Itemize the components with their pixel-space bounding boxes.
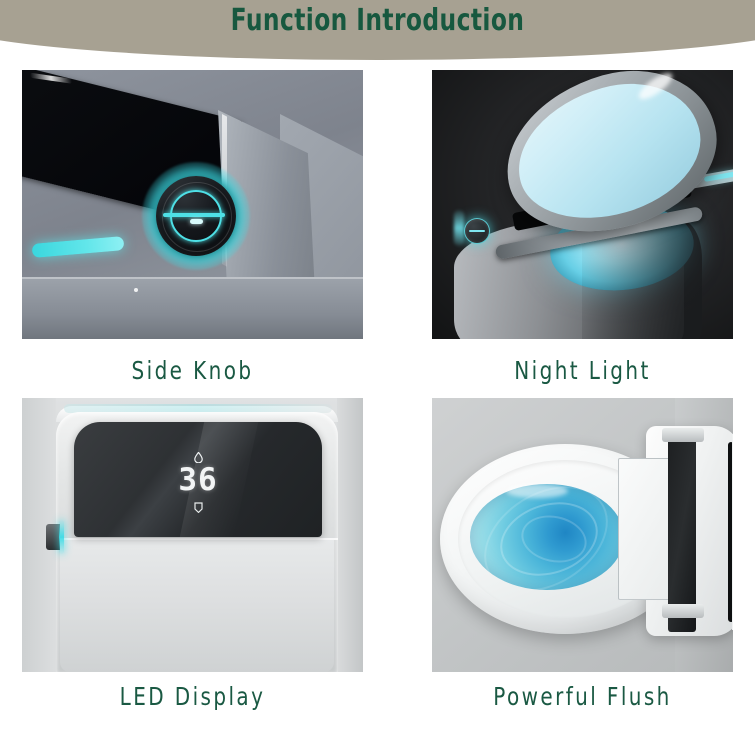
powerful-flush-image: 36 (432, 398, 733, 672)
housing-outer-edge (732, 434, 733, 630)
side-button-glow (59, 520, 64, 554)
side-knob-image (22, 70, 363, 339)
bowl-highlight (506, 484, 568, 498)
feature-card-night-light[interactable]: Night Light (432, 70, 733, 339)
body-lower-band (22, 277, 363, 339)
tank-seam (56, 538, 338, 540)
page-title: Function Introduction (83, 2, 672, 40)
temperature-icon (194, 500, 203, 511)
hinge-clip-top (662, 428, 704, 442)
edge-glow (454, 210, 464, 246)
led-display-image: 36 (22, 398, 363, 672)
knob-symbol-bar-icon (163, 213, 225, 217)
wall-right (337, 398, 363, 672)
night-light-image (432, 70, 733, 339)
caption-side-knob: Side Knob (56, 356, 329, 385)
control-panel-strip[interactable]: 36 (668, 430, 696, 632)
temperature-value: 36 (74, 464, 322, 496)
hinge-clip-bottom (662, 604, 704, 618)
light-strip-icon (32, 236, 125, 258)
knob-symbol-dot-icon (190, 219, 203, 224)
feature-card-side-knob[interactable]: Side Knob (22, 70, 363, 339)
caption-led-display: LED Display (56, 682, 329, 711)
header-banner: Function Introduction (0, 0, 755, 62)
temperature-readout: 36 (74, 450, 322, 511)
water-drop-icon (194, 450, 203, 461)
feature-card-led-display[interactable]: 36 LED Display (22, 398, 363, 672)
caption-night-light: Night Light (462, 356, 703, 385)
feature-grid: Side Knob Night Light (0, 62, 755, 755)
sensor-dot-icon (134, 288, 138, 292)
power-knob-icon[interactable] (156, 176, 236, 256)
knob-symbol-icon (469, 230, 485, 232)
led-screen[interactable]: 36 (74, 422, 322, 537)
seam-line (22, 277, 363, 279)
side-button[interactable] (46, 524, 60, 550)
feature-card-powerful-flush[interactable]: 36 Powerful Flush (432, 398, 733, 672)
side-knob-icon[interactable] (464, 218, 490, 244)
swirling-water (470, 484, 624, 590)
caption-powerful-flush: Powerful Flush (462, 682, 703, 711)
tank-lower-body (60, 540, 334, 672)
glass-highlight (30, 73, 72, 84)
